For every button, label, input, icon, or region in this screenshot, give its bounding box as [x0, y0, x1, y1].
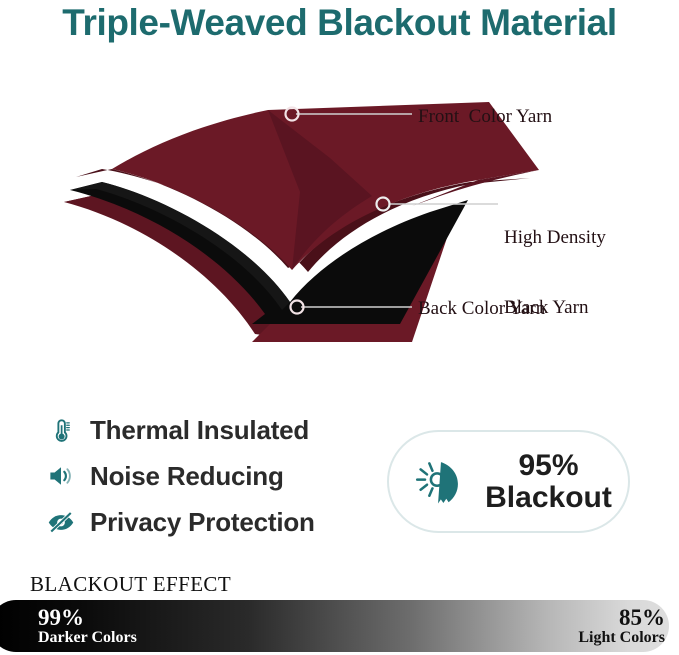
sun-blocked-by-curtain-icon: [403, 451, 477, 513]
blackout-badge-percent: 95%: [477, 450, 620, 482]
feature-label-privacy-protection: Privacy Protection: [90, 507, 315, 538]
feature-row-privacy-protection: Privacy Protection: [44, 500, 364, 544]
feature-label-thermal-insulated: Thermal Insulated: [90, 415, 309, 446]
gradient-bar-left-sublabel: Darker Colors: [38, 630, 137, 647]
feature-row-thermal-insulated: Thermal Insulated: [44, 408, 364, 452]
gradient-bar-left-label: 99% Darker Colors: [38, 606, 137, 647]
gradient-bar-right-label: 85% Light Colors: [578, 606, 665, 647]
speaker-sound-icon: [44, 459, 78, 493]
callout-label-front: Front Color Yarn: [418, 105, 552, 128]
gradient-bar-left-percent: 99%: [38, 606, 137, 630]
page-title: Triple-Weaved Blackout Material: [0, 2, 679, 44]
gradient-bar-right-percent: 85%: [578, 606, 665, 630]
eye-slash-icon: [44, 505, 78, 539]
blackout-effect-heading: BLACKOUT EFFECT: [30, 572, 231, 597]
blackout-badge-word: Blackout: [477, 482, 620, 514]
gradient-bar-right-sublabel: Light Colors: [578, 630, 665, 647]
blackout-percentage-badge: 95% Blackout: [387, 430, 630, 533]
callout-label-black-yarn-line1: High Density: [504, 226, 606, 249]
feature-row-noise-reducing: Noise Reducing: [44, 454, 364, 498]
thermometer-icon: [44, 413, 78, 447]
callout-label-back: Back Color Yarn: [418, 297, 545, 320]
feature-list: Thermal Insulated Noise Reducing Privacy…: [44, 408, 364, 546]
blackout-badge-text: 95% Blackout: [477, 450, 628, 513]
feature-label-noise-reducing: Noise Reducing: [90, 461, 284, 492]
